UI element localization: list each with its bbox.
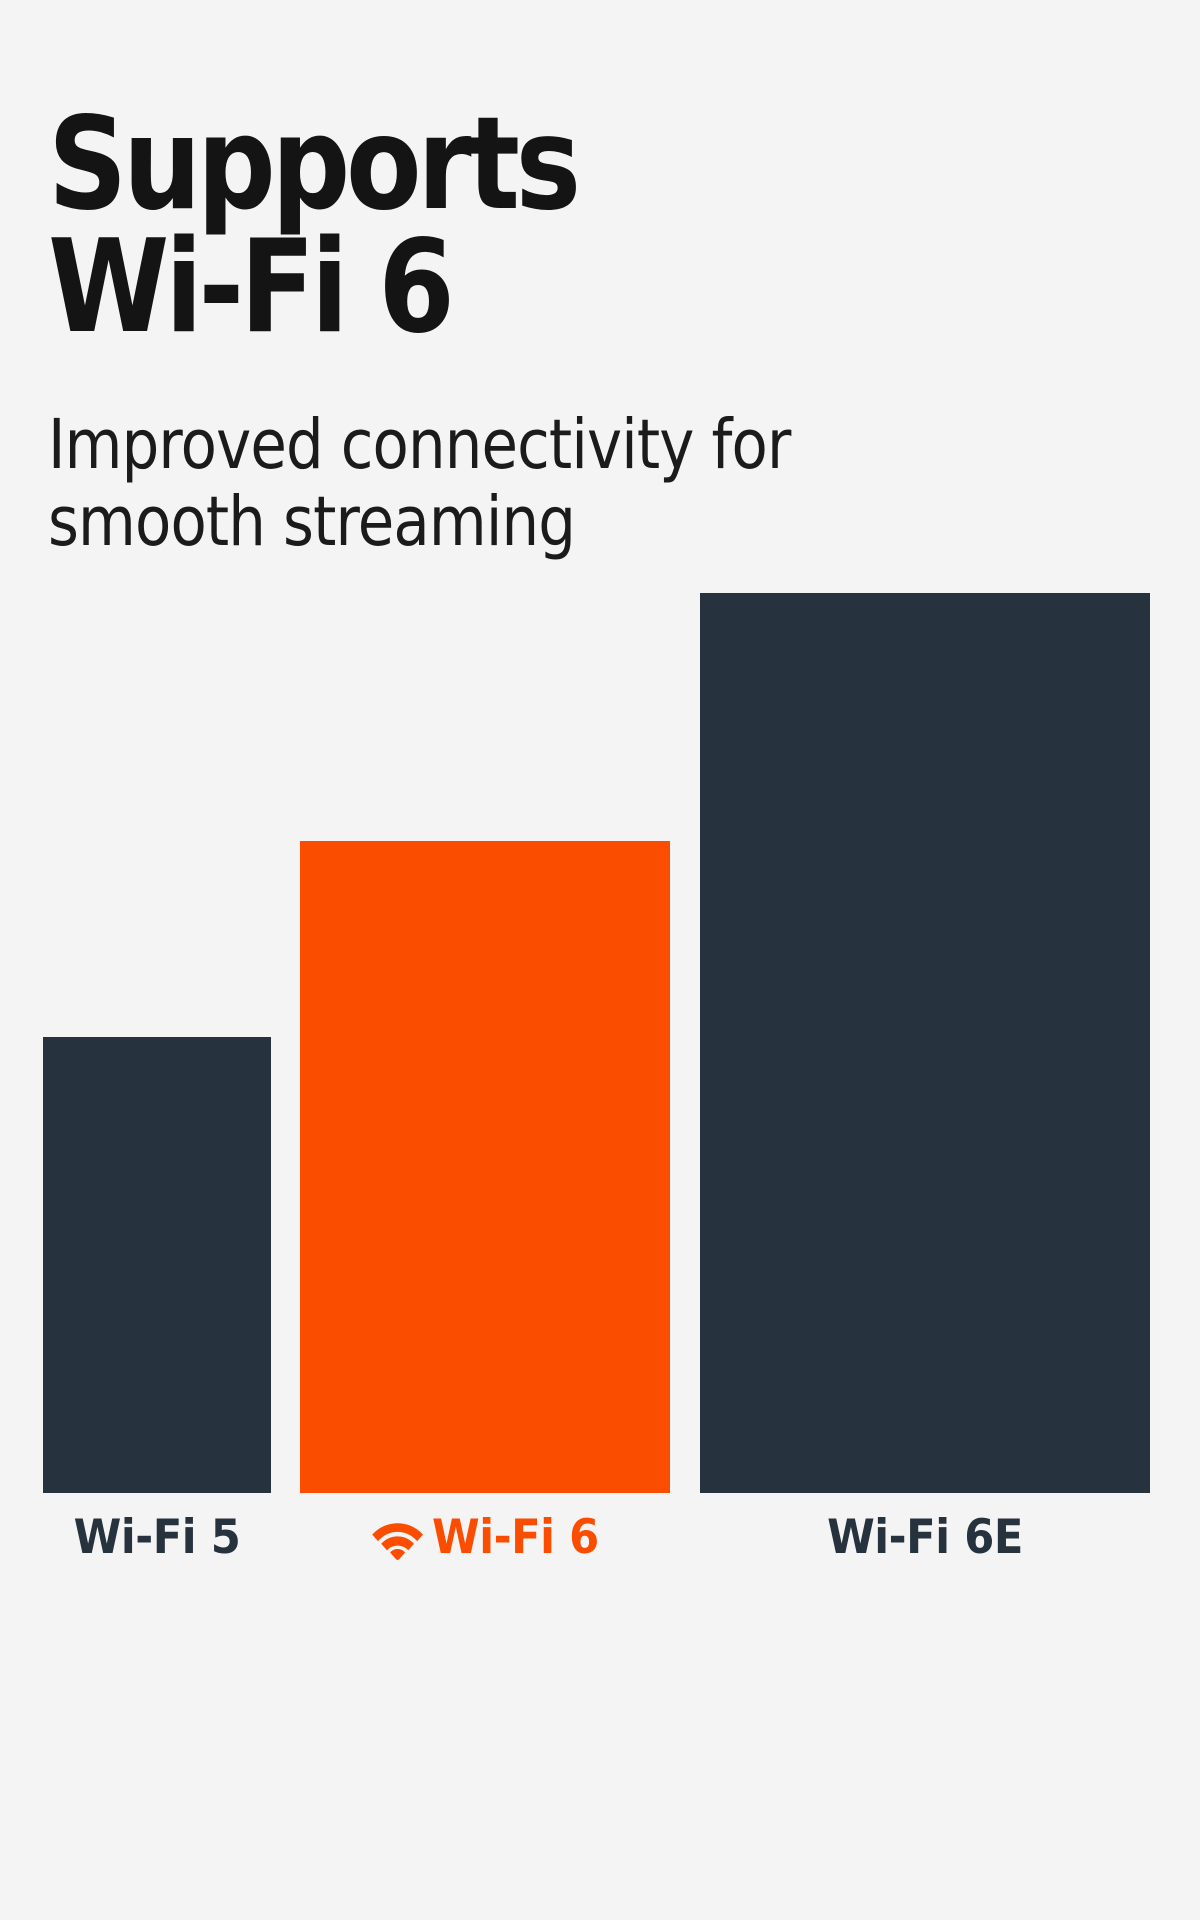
bar-label-wifi-5: Wi-Fi 5 — [52, 1502, 262, 1572]
bar-label-wifi-6e-text: Wi-Fi 6E — [827, 1510, 1023, 1565]
promo-card: Supports Wi-Fi 6 Improved connectivity f… — [0, 0, 1200, 1920]
wifi-icon — [371, 1514, 424, 1560]
bar-label-wifi-6-text: Wi-Fi 6 — [432, 1510, 599, 1565]
bar-wifi-6e — [700, 593, 1150, 1493]
bar-wifi-5 — [43, 1037, 271, 1493]
wifi-comparison-bar-chart: Wi-Fi 5 Wi-Fi 6 Wi-Fi 6E — [0, 0, 1200, 1920]
bar-label-wifi-5-text: Wi-Fi 5 — [74, 1510, 241, 1565]
bar-wifi-6 — [300, 841, 670, 1493]
bar-label-wifi-6: Wi-Fi 6 — [315, 1502, 655, 1572]
bar-label-wifi-6e: Wi-Fi 6E — [718, 1502, 1132, 1572]
